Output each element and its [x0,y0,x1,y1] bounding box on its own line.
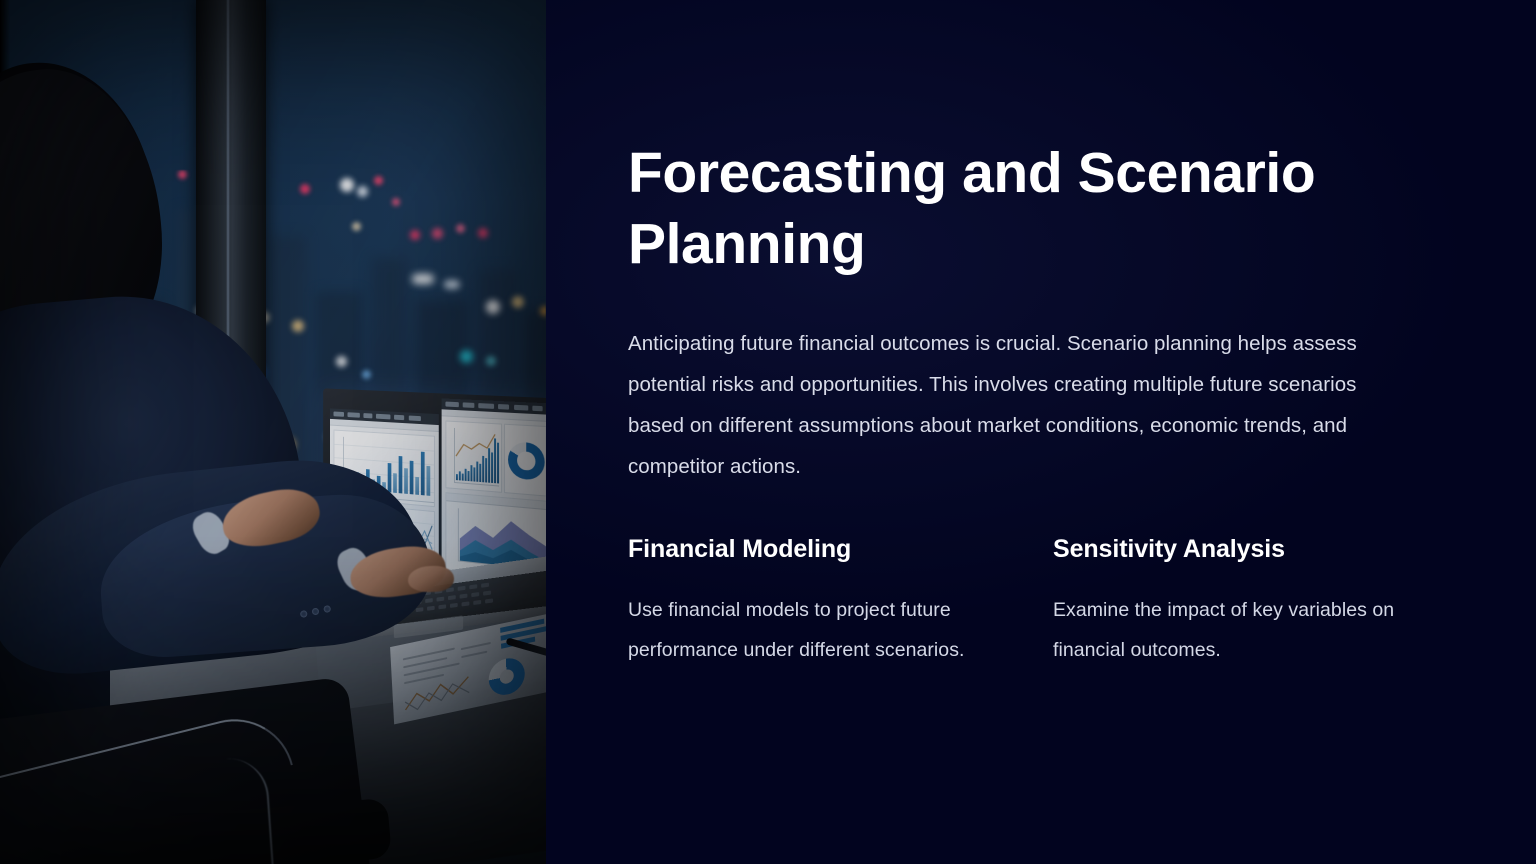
hero-photo: 85.1% [0,0,546,864]
feature-body: Examine the impact of key variables on f… [1053,591,1425,671]
intro-paragraph: Anticipating future financial outcomes i… [628,323,1410,487]
feature-body: Use financial models to project future p… [628,591,1000,671]
feature-heading: Sensitivity Analysis [1053,535,1478,564]
feature-heading: Financial Modeling [628,535,1053,564]
feature-column-financial-modeling: Financial Modeling Use financial models … [628,535,1053,671]
feature-column-sensitivity-analysis: Sensitivity Analysis Examine the impact … [1053,535,1478,671]
content-panel: Forecasting and Scenario Planning Antici… [546,0,1536,864]
page-title: Forecasting and Scenario Planning [628,138,1398,279]
photo-vignette [0,0,546,864]
feature-columns: Financial Modeling Use financial models … [628,535,1478,671]
slide: 85.1% [0,0,1536,864]
